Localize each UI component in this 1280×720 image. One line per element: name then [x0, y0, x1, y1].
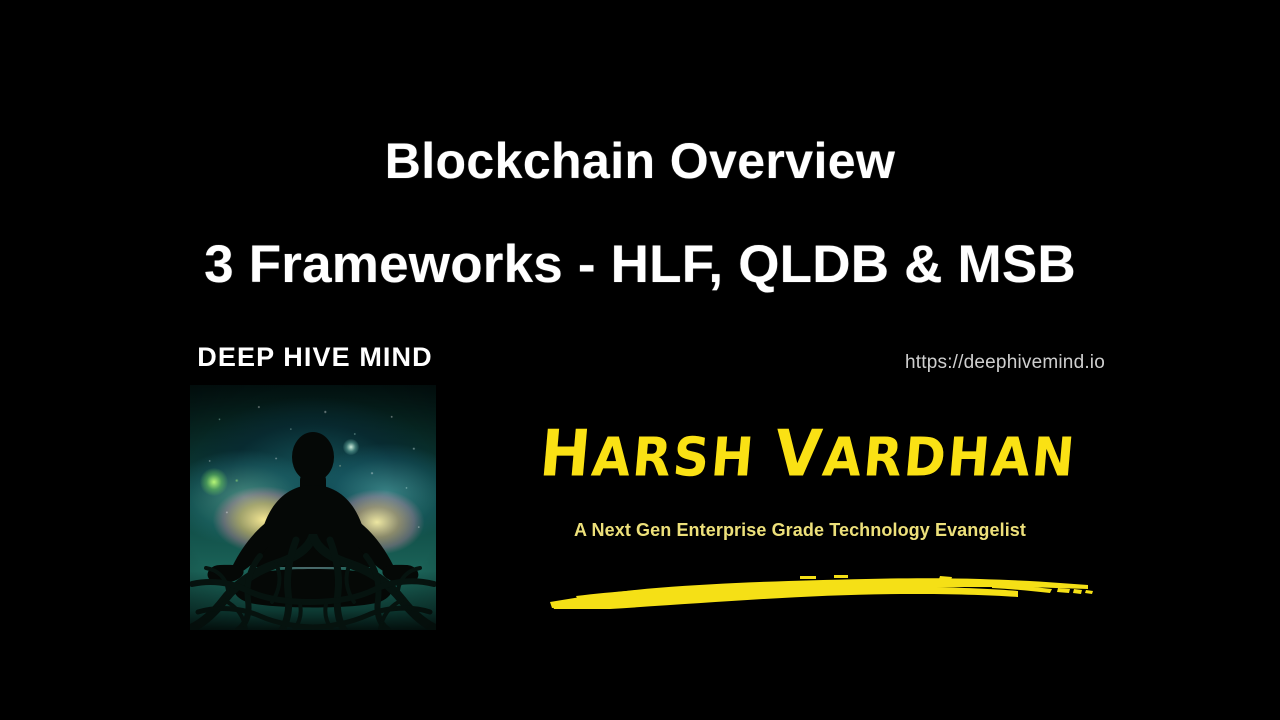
slide-title-block: Blockchain Overview 3 Frameworks - HLF, … — [0, 130, 1280, 296]
brand-artwork — [190, 385, 436, 630]
brand-wordmark: DEEP HIVE MIND — [192, 341, 438, 373]
artwork-vignette — [190, 385, 436, 630]
presenter-name: HARSH VARDHAN — [537, 422, 1063, 489]
website-url[interactable]: https://deephivemind.io — [905, 352, 1105, 374]
presenter-name-ardhan: ARDHAN — [820, 426, 1079, 488]
brush-underline — [548, 558, 1096, 610]
presenter-name-h: H — [537, 416, 596, 491]
presenter-name-v: V — [772, 416, 827, 491]
presenter-tagline: A Next Gen Enterprise Grade Technology E… — [540, 520, 1060, 541]
brand-logo-card: DEEP HIVE MIND — [190, 341, 438, 631]
page-title: Blockchain Overview — [0, 130, 1280, 192]
page-subtitle: 3 Frameworks - HLF, QLDB & MSB — [0, 234, 1280, 296]
brush-stroke-icon — [548, 558, 1096, 610]
presenter-name-arsh: ARSH — [589, 426, 757, 488]
slide-canvas: Blockchain Overview 3 Frameworks - HLF, … — [0, 0, 1280, 720]
